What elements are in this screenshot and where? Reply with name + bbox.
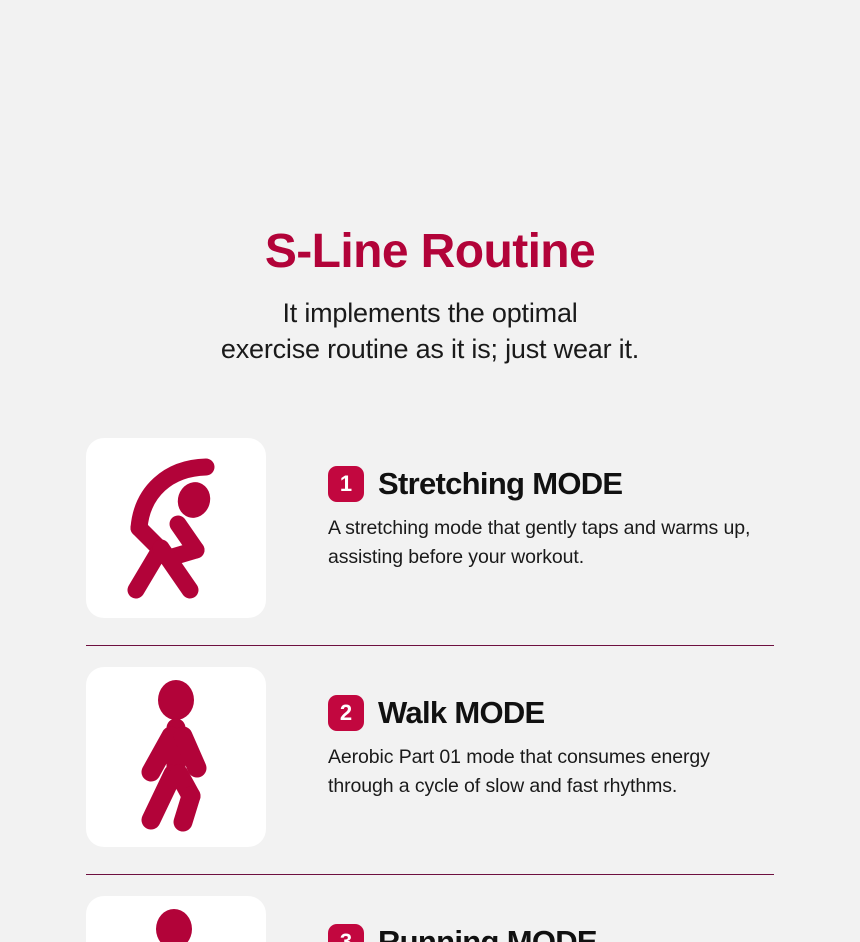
- mode-body-walk: 2 Walk MODE Aerobic Part 01 mode that co…: [328, 667, 774, 801]
- stretching-head-icon: [173, 478, 215, 522]
- mode-row-walk[interactable]: 2 Walk MODE Aerobic Part 01 mode that co…: [86, 667, 774, 847]
- page-title: S-Line Routine: [0, 228, 860, 276]
- row-spacer: [86, 875, 774, 896]
- mode-row-running[interactable]: 3 Running MODE: [86, 896, 774, 942]
- running-head-icon: [156, 909, 192, 942]
- page-header: S-Line Routine It implements the optimal…: [0, 0, 860, 368]
- mode-icon-card-walk: [86, 667, 266, 847]
- mode-heading-stretching: 1 Stretching MODE: [328, 466, 774, 502]
- mode-icon-card-stretching: [86, 438, 266, 618]
- mode-description: Aerobic Part 01 mode that consumes energ…: [328, 743, 768, 801]
- mode-body-stretching: 1 Stretching MODE A stretching mode that…: [328, 438, 774, 572]
- page-subtitle: It implements the optimal exercise routi…: [0, 296, 860, 368]
- mode-row-stretching[interactable]: 1 Stretching MODE A stretching mode that…: [86, 438, 774, 618]
- mode-description: A stretching mode that gently taps and w…: [328, 514, 768, 572]
- mode-number-badge: 2: [328, 695, 364, 731]
- mode-number-badge: 1: [328, 466, 364, 502]
- mode-number-badge: 3: [328, 924, 364, 942]
- mode-icon-card-running: [86, 896, 266, 942]
- mode-list: 1 Stretching MODE A stretching mode that…: [0, 438, 860, 942]
- page-subtitle-line-1: It implements the optimal: [0, 296, 860, 332]
- row-spacer: [86, 618, 774, 627]
- mode-heading-running: 3 Running MODE: [328, 924, 774, 942]
- mode-title: Running MODE: [378, 924, 597, 942]
- row-spacer: [86, 847, 774, 856]
- running-figure-icon: [116, 909, 236, 942]
- walking-head-icon: [158, 680, 194, 720]
- walking-figure-icon: [121, 680, 231, 834]
- mode-body-running: 3 Running MODE: [328, 896, 774, 942]
- mode-title: Stretching MODE: [378, 466, 622, 502]
- mode-heading-walk: 2 Walk MODE: [328, 695, 774, 731]
- s-line-routine-page: S-Line Routine It implements the optimal…: [0, 0, 860, 942]
- page-subtitle-line-2: exercise routine as it is; just wear it.: [0, 332, 860, 368]
- mode-title: Walk MODE: [378, 695, 545, 731]
- stretching-figure-icon: [106, 454, 246, 602]
- row-spacer: [86, 646, 774, 667]
